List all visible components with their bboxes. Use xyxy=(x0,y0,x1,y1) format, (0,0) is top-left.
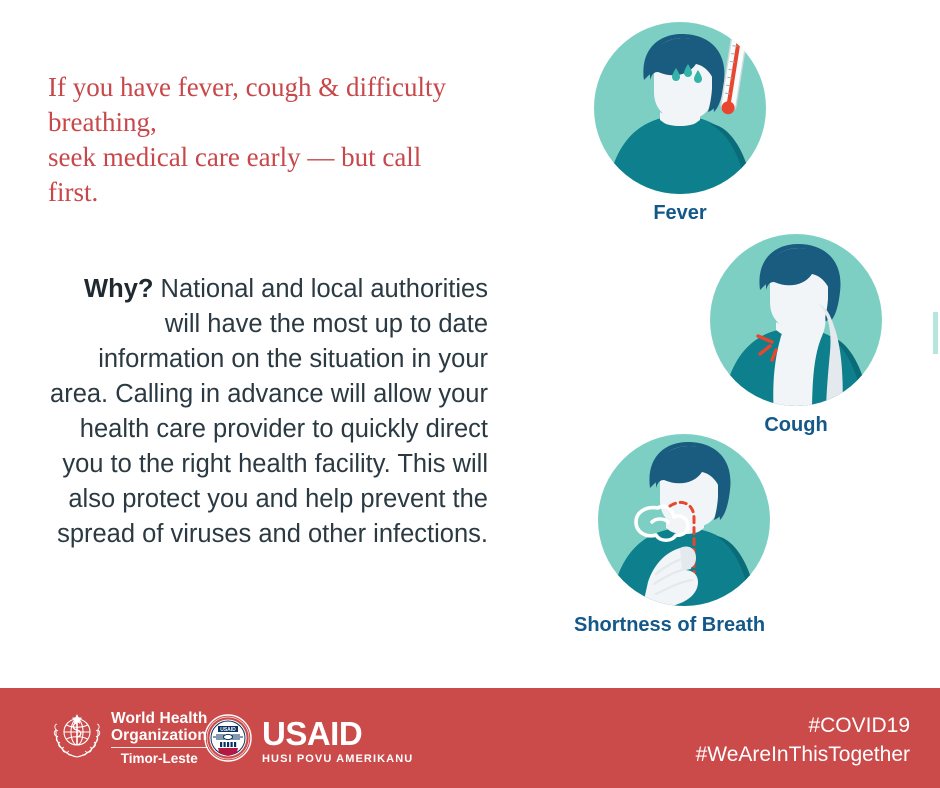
edge-artifact xyxy=(933,312,938,354)
symptom-cough: Cough xyxy=(708,232,884,437)
body-copy-lead: Why? xyxy=(84,275,153,303)
fever-person-thermometer-icon xyxy=(592,20,768,196)
symptom-fever: Fever xyxy=(592,20,768,225)
cough-person-elbow-icon xyxy=(708,232,884,408)
symptom-shortness-of-breath: Shortness of Breath xyxy=(596,432,772,637)
symptom-label-shortness-of-breath: Shortness of Breath xyxy=(574,614,750,637)
who-wordmark: World Health Organization Timor-Leste xyxy=(111,710,208,766)
hashtag-block: #COVID19 #WeAreInThisTogether xyxy=(696,711,910,769)
svg-text:USAID: USAID xyxy=(220,727,236,733)
body-copy: Why? National and local authorities will… xyxy=(48,272,488,552)
usaid-wordmark: USAID HUSI POVU AMERIKANU xyxy=(262,717,413,765)
usaid-word: USAID xyxy=(262,717,413,750)
who-divider xyxy=(111,747,208,748)
who-name-line2: Organization xyxy=(111,727,208,744)
usaid-tagline: HUSI POVU AMERIKANU xyxy=(262,753,413,765)
who-name-line1: World Health xyxy=(111,710,208,727)
hashtag-covid19: #COVID19 xyxy=(696,711,910,740)
usaid-logo: USAID USAID HUSI POVU AMERIKANU xyxy=(204,714,413,767)
usaid-seal-icon: USAID xyxy=(204,714,252,767)
who-emblem-icon xyxy=(52,711,102,766)
who-country-label: Timor-Leste xyxy=(111,751,208,766)
who-logo: World Health Organization Timor-Leste xyxy=(52,710,208,766)
headline-text: If you have fever, cough & difficulty br… xyxy=(48,70,478,210)
shortness-of-breath-person-icon xyxy=(596,432,772,608)
body-copy-text: National and local authorities will have… xyxy=(50,275,488,548)
hashtag-weareinthistogether: #WeAreInThisTogether xyxy=(696,740,910,769)
symptom-label-fever: Fever xyxy=(592,202,768,225)
